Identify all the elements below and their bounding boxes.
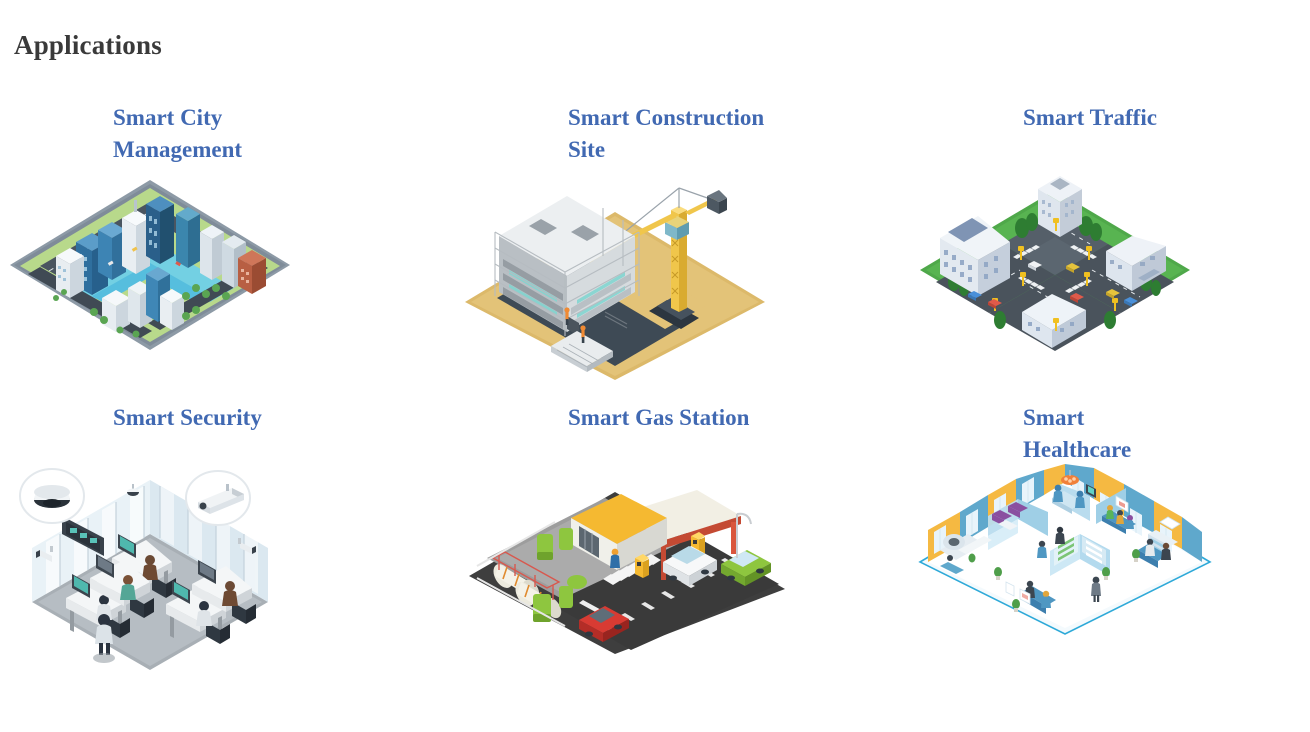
application-card-smart-traffic[interactable]: Smart Traffic [910, 92, 1310, 392]
applications-grid: Smart City Management [0, 92, 1310, 732]
illustration-isometric-road-intersection [910, 170, 1200, 365]
card-title-smart-traffic: Smart Traffic [1023, 102, 1223, 134]
illustration-isometric-hospital-floorplan [910, 454, 1220, 644]
card-title-smart-construction-site: Smart Construction Site [568, 102, 818, 166]
card-title-smart-security: Smart Security [113, 402, 333, 434]
illustration-isometric-control-room [0, 454, 300, 674]
application-card-smart-city-management[interactable]: Smart City Management [0, 92, 436, 392]
application-card-smart-construction-site[interactable]: Smart Construction Site [455, 92, 891, 392]
application-card-smart-security[interactable]: Smart Security [0, 392, 436, 692]
card-title-smart-city-management: Smart City Management [113, 102, 333, 166]
illustration-isometric-city-skyline [0, 170, 300, 370]
page-title: Applications [14, 30, 162, 61]
application-card-smart-healthcare[interactable]: Smart Healthcare [910, 392, 1310, 692]
illustration-isometric-construction-crane [455, 170, 775, 390]
illustration-isometric-fuel-station [455, 454, 795, 664]
card-title-smart-gas-station: Smart Gas Station [568, 402, 818, 434]
application-card-smart-gas-station[interactable]: Smart Gas Station [455, 392, 891, 692]
